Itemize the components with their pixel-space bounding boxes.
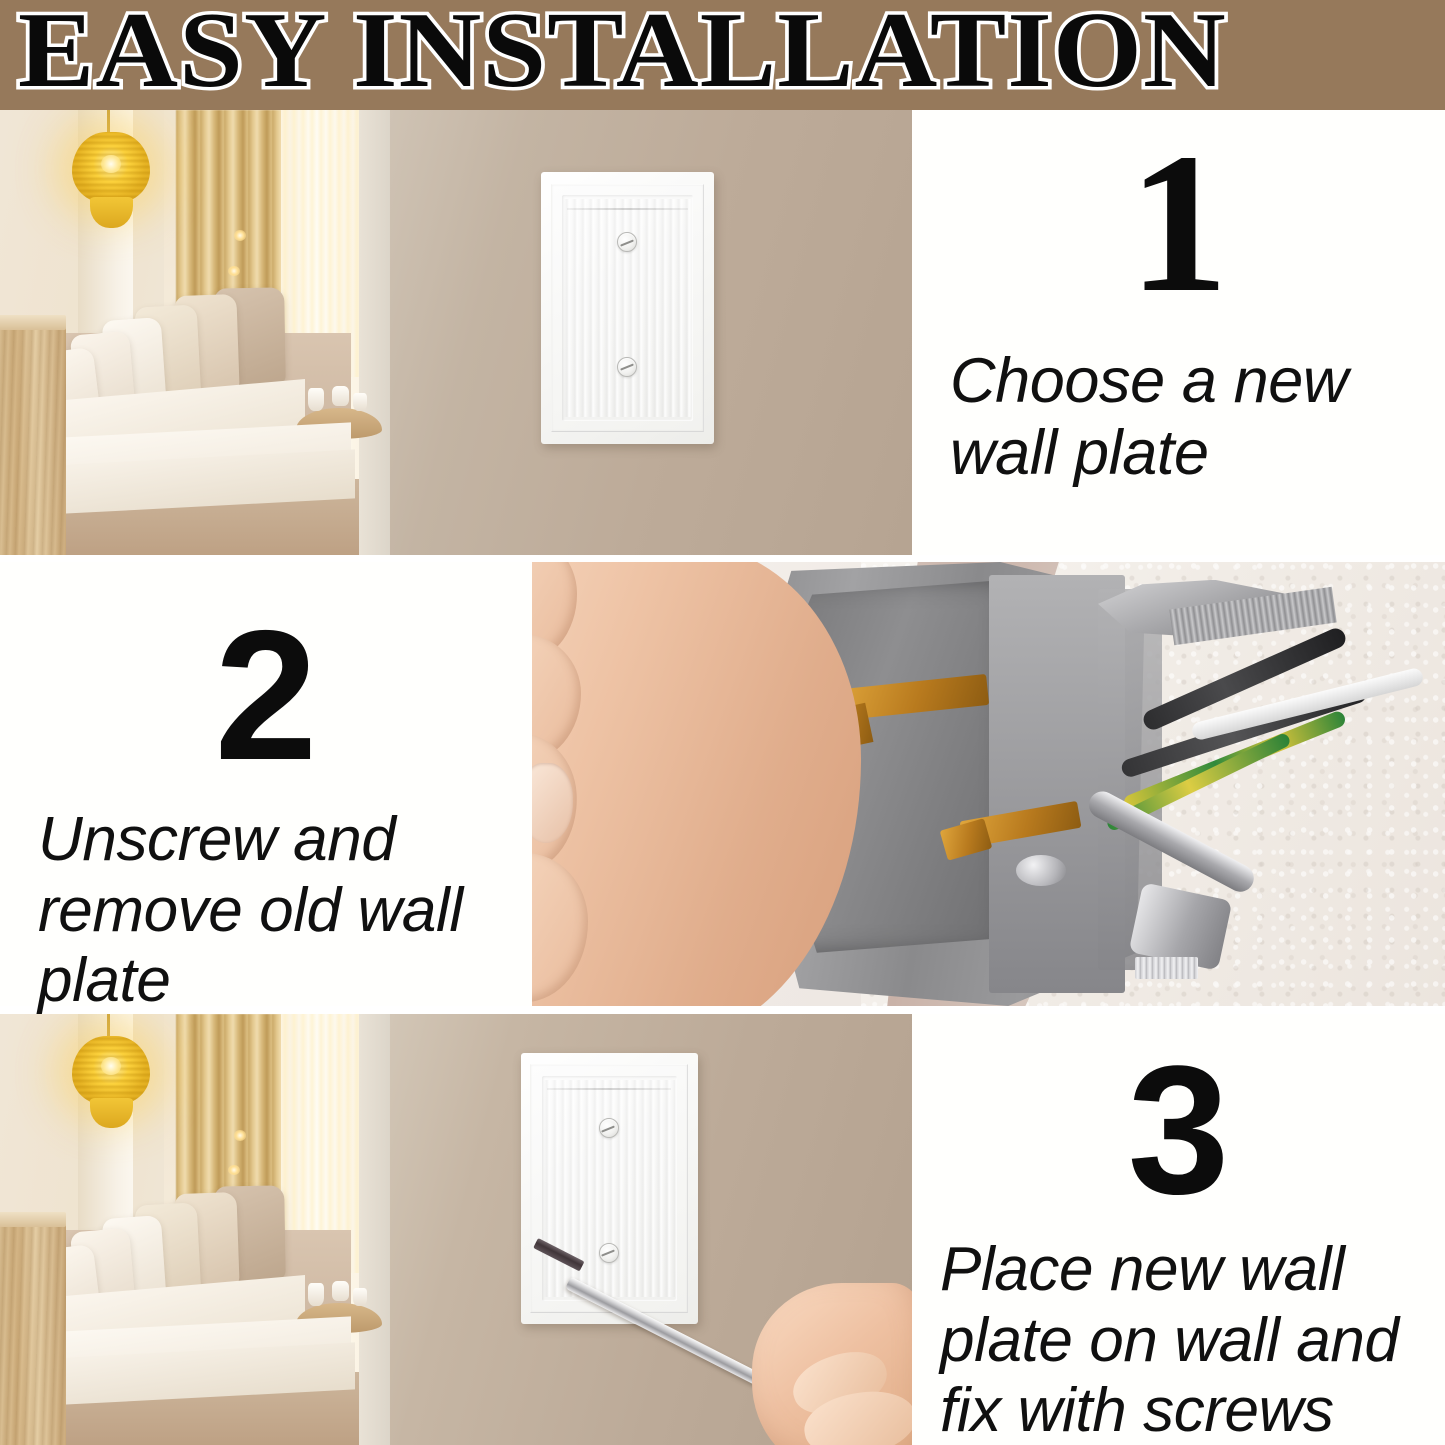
- step-2-text-panel: 2 Unscrew and remove old wall plate: [0, 562, 532, 1006]
- module-terminal-screw: [1016, 855, 1066, 886]
- step-1-number: 1: [1129, 124, 1229, 324]
- step-3-row: 3 Place new wall plate on wall and fix w…: [0, 1014, 1445, 1445]
- step-3-text-panel: 3 Place new wall plate on wall and fix w…: [912, 1014, 1445, 1445]
- living-room-scene: [0, 110, 390, 555]
- ceramic-cup: [353, 1288, 367, 1306]
- plate-screw-bottom: [617, 357, 637, 377]
- step-1-row: 1 Choose a new wall plate: [0, 110, 1445, 555]
- beige-wall-scene: [390, 1014, 912, 1445]
- room-wall-right: [359, 1014, 390, 1445]
- page-title: EASY INSTALLATION: [18, 0, 1227, 106]
- step-2-caption: Unscrew and remove old wall plate: [0, 805, 532, 1017]
- step-3-room-photo: [0, 1014, 390, 1445]
- step-1-caption: Choose a new wall plate: [912, 346, 1445, 490]
- ceramic-cup: [332, 1281, 350, 1301]
- ceramic-cup: [332, 386, 350, 406]
- plate-screw-top: [599, 1118, 619, 1138]
- ceramic-cup: [353, 393, 367, 412]
- step-2-row: 2 Unscrew and remove old wall plate: [0, 562, 1445, 1006]
- outlet-removal-scene: [532, 562, 1445, 1006]
- wall-plate-body: [541, 172, 713, 443]
- wall-plate: [541, 172, 713, 443]
- step-1-room-photo: [0, 110, 390, 555]
- infographic-sheet: EASY INSTALLATION: [0, 0, 1445, 1445]
- ceramic-cup: [308, 388, 324, 411]
- beige-wall-scene: [390, 110, 912, 555]
- hand: [532, 562, 861, 1006]
- header-banner: EASY INSTALLATION: [0, 0, 1445, 110]
- wall-plate-top-groove: [567, 208, 688, 210]
- ceramic-cup: [308, 1283, 324, 1305]
- wall-plate-top-groove: [547, 1088, 671, 1090]
- step-1-plate-photo: [390, 110, 912, 555]
- accent-light-2: [228, 266, 240, 277]
- finger: [532, 853, 588, 1002]
- accent-light-1: [234, 1130, 246, 1140]
- living-room-scene: [0, 1014, 390, 1445]
- step-3-number: 3: [1128, 1038, 1230, 1221]
- wood-cabinet-top: [0, 1212, 66, 1227]
- wood-cabinet-grain: [0, 1217, 66, 1445]
- wall-plate: [521, 1053, 698, 1325]
- room-wall-right: [359, 110, 390, 555]
- wood-cabinet-top: [0, 315, 66, 330]
- accent-light-2: [228, 1165, 240, 1175]
- step-3-screwdriver-photo: [390, 1014, 912, 1445]
- hand: [752, 1283, 912, 1445]
- step-3-caption: Place new wall plate on wall and fix wit…: [912, 1235, 1445, 1445]
- accent-light-1: [234, 230, 246, 241]
- cable-ferrule: [1135, 957, 1199, 979]
- wall-plate-body: [521, 1053, 698, 1325]
- step-2-outlet-photo: [532, 562, 1445, 1006]
- step-1-text-panel: 1 Choose a new wall plate: [912, 110, 1445, 555]
- plate-screw-bottom: [599, 1243, 619, 1263]
- light-bulb-glow: [101, 1057, 121, 1075]
- wood-cabinet-grain: [0, 319, 66, 555]
- step-2-number: 2: [215, 604, 318, 789]
- wall-plate-beadboard: [544, 1080, 675, 1297]
- light-bulb-glow: [101, 155, 121, 174]
